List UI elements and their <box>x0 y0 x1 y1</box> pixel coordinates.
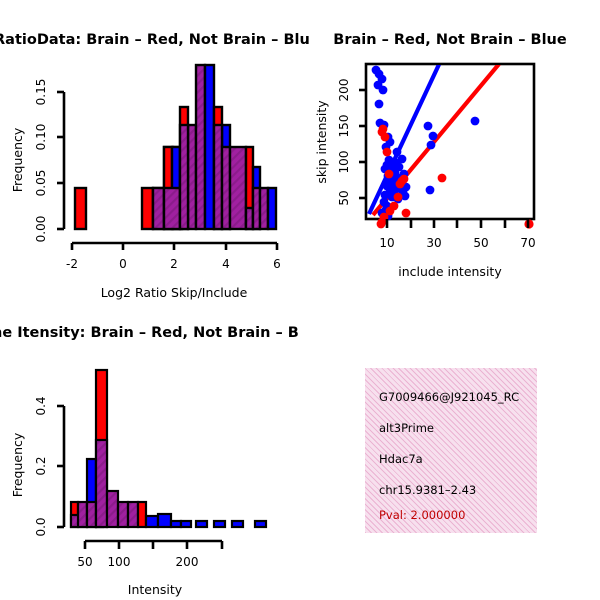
scatter-x-axis-ticks <box>387 219 528 228</box>
log2-ratio-histogram-svg: RatioData: Brain – Red, Not Brain – Blu … <box>0 0 300 310</box>
scatter-x-ticklabels: 10 30 50 70 <box>379 236 535 250</box>
svg-text:0.10: 0.10 <box>34 124 48 151</box>
ratio-hist-title: RatioData: Brain – Red, Not Brain – Blu <box>0 32 310 48</box>
gene-hist-bars <box>71 370 266 527</box>
ratio-hist-x-axis <box>72 243 277 250</box>
svg-text:0: 0 <box>119 257 127 271</box>
svg-text:0.05: 0.05 <box>34 170 48 197</box>
info-line-pval: Pval: 2.000000 <box>379 508 465 522</box>
intensity-scatter-panel: Brain – Red, Not Brain – Blue <box>300 0 600 310</box>
scatter-title: Brain – Red, Not Brain – Blue <box>333 32 567 48</box>
info-line-gene-symbol: Hdac7a <box>379 452 423 466</box>
svg-text:30: 30 <box>426 236 441 250</box>
gene-hist-x-axis <box>85 541 222 549</box>
info-line-probe-id: G7009466@J921045_RC <box>379 390 519 404</box>
svg-text:0.4: 0.4 <box>34 396 48 415</box>
gene-intensity-histogram-svg: ne Itensity: Brain – Red, Not Brain – B … <box>0 310 300 600</box>
ratio-hist-ylabel: Frequency <box>10 127 25 192</box>
gene-hist-y-axis <box>57 406 64 527</box>
svg-text:-2: -2 <box>66 257 78 271</box>
gene-hist-ylabel: Frequency <box>10 432 25 497</box>
intensity-scatter-svg: Brain – Red, Not Brain – Blue <box>300 0 600 310</box>
ratio-hist-y-axis <box>57 92 64 229</box>
info-line-event-type: alt3Prime <box>379 421 434 435</box>
svg-text:200: 200 <box>337 79 351 102</box>
svg-text:50: 50 <box>337 190 351 205</box>
svg-text:150: 150 <box>337 115 351 138</box>
svg-text:200: 200 <box>176 555 199 569</box>
scatter-y-ticklabels: 200 150 100 50 <box>337 79 351 206</box>
svg-text:2: 2 <box>170 257 178 271</box>
svg-text:0.00: 0.00 <box>34 216 48 243</box>
gene-hist-y-ticklabels: 0.4 0.2 0.0 <box>34 396 48 536</box>
info-line-coordinates: chr15.9381–2.43 <box>379 483 476 497</box>
gene-hist-x-ticklabels: 50 100 200 <box>77 555 198 569</box>
svg-text:4: 4 <box>222 257 230 271</box>
gene-hist-xlabel: Intensity <box>128 582 183 597</box>
gene-intensity-histogram-panel: ne Itensity: Brain – Red, Not Brain – B … <box>0 310 300 600</box>
ratio-hist-x-ticklabels: -2 0 2 4 6 <box>66 257 281 271</box>
svg-text:6: 6 <box>273 257 281 271</box>
ratio-hist-y-ticklabels: 0.15 0.10 0.05 0.00 <box>34 79 48 243</box>
log2-ratio-histogram-panel: RatioData: Brain – Red, Not Brain – Blu … <box>0 0 300 310</box>
svg-text:0.0: 0.0 <box>34 517 48 536</box>
svg-text:100: 100 <box>337 151 351 174</box>
svg-text:50: 50 <box>77 555 92 569</box>
ratio-hist-bars <box>75 65 276 229</box>
gene-info-panel: G7009466@J921045_RC alt3Prime Hdac7a chr… <box>365 368 537 533</box>
svg-text:100: 100 <box>108 555 131 569</box>
scatter-xlabel: include intensity <box>398 264 502 279</box>
ratio-hist-xlabel: Log2 Ratio Skip/Include <box>101 285 248 300</box>
scatter-ylabel: skip intensity <box>314 100 329 184</box>
svg-text:0.2: 0.2 <box>34 456 48 475</box>
gene-hist-title: ne Itensity: Brain – Red, Not Brain – B <box>0 325 299 341</box>
svg-text:70: 70 <box>520 236 535 250</box>
svg-text:10: 10 <box>379 236 394 250</box>
svg-text:0.15: 0.15 <box>34 79 48 106</box>
svg-text:50: 50 <box>473 236 488 250</box>
